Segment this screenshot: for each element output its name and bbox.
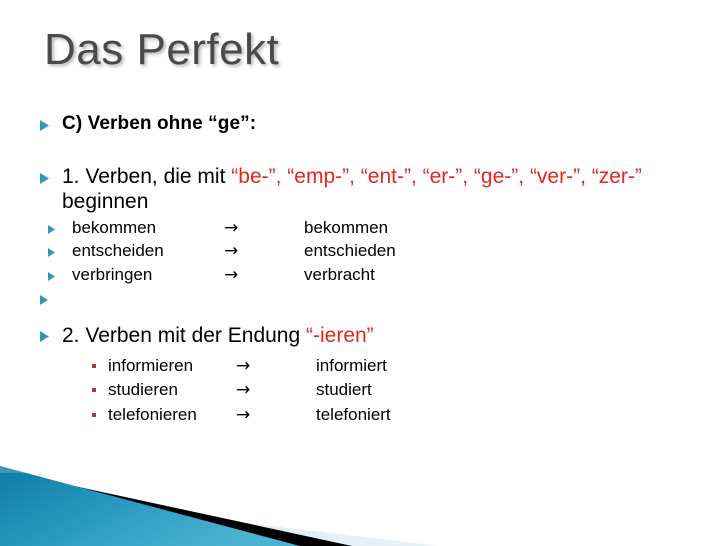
word-pair: verbringen → verbracht [72, 265, 688, 286]
rule-two-example-list: informieren → informiert studieren → stu… [92, 355, 688, 427]
infinitive: bekommen [72, 218, 224, 239]
square-bullet-icon [92, 404, 108, 417]
infinitive: entscheiden [72, 241, 224, 262]
square-bullet-icon [92, 379, 108, 392]
participle: entschieden [304, 241, 688, 262]
arrow-icon: → [224, 218, 304, 239]
infinitive: studieren [108, 379, 236, 401]
arrow-icon: → [236, 356, 316, 378]
bullet-item-empty [40, 289, 688, 311]
list-item: bekommen → bekommen [40, 218, 688, 239]
list-item: studieren → studiert [92, 379, 688, 402]
triangle-bullet-icon [40, 265, 72, 281]
square-bullet-icon [92, 355, 108, 368]
word-pair: studieren → studiert [108, 379, 688, 402]
infinitive: verbringen [72, 265, 224, 286]
infinitive: telefonieren [108, 404, 236, 426]
heading-text: C) Verben ohne “ge”: [62, 112, 688, 135]
participle: studiert [316, 379, 688, 401]
word-pair: bekommen → bekommen [72, 218, 688, 239]
bullet-item-rule-one: 1. Verben, die mit “be-”, “emp-”, “ent-”… [40, 165, 688, 215]
bullet-item-heading: C) Verben ohne “ge”: [40, 112, 688, 135]
rule-two-text: 2. Verben mit der Endung “-ieren” [62, 323, 688, 349]
triangle-bullet-icon [40, 289, 62, 305]
triangle-bullet-icon [40, 323, 62, 342]
list-item: informieren → informiert [92, 355, 688, 378]
participle: bekommen [304, 218, 688, 239]
arrow-icon: → [224, 241, 304, 262]
arrow-icon: → [236, 380, 316, 402]
list-item: verbringen → verbracht [40, 265, 688, 286]
triangle-bullet-icon [40, 218, 72, 234]
rule-one-lead: 1. Verben, die mit [62, 165, 231, 188]
list-item: entscheiden → entschieden [40, 241, 688, 262]
rule-one-tail: beginnen [62, 190, 148, 213]
infinitive: informieren [108, 355, 236, 377]
word-pair: informieren → informiert [108, 355, 688, 378]
slide: Das Perfekt C) Verben ohne “ge”: 1. Verb… [0, 0, 728, 546]
rule-one-text: 1. Verben, die mit “be-”, “emp-”, “ent-”… [62, 165, 688, 215]
page-title: Das Perfekt [44, 26, 279, 74]
participle: informiert [316, 355, 688, 377]
word-pair: entscheiden → entschieden [72, 241, 688, 262]
arrow-icon: → [236, 405, 316, 427]
triangle-bullet-icon [40, 241, 72, 257]
bullet-item-rule-two: 2. Verben mit der Endung “-ieren” [40, 323, 688, 349]
word-pair: telefonieren → telefoniert [108, 404, 688, 427]
triangle-bullet-icon [40, 112, 62, 131]
bottom-left-corner-graphic [0, 454, 440, 546]
slide-body: C) Verben ohne “ge”: 1. Verben, die mit … [40, 110, 688, 427]
rule-two-ending: “-ieren” [306, 324, 374, 347]
rule-one-prefixes: “be-”, “emp-”, “ent-”, “er-”, “ge-”, “ve… [231, 165, 642, 188]
participle: telefoniert [316, 404, 688, 426]
arrow-icon: → [224, 265, 304, 286]
list-item: telefonieren → telefoniert [92, 404, 688, 427]
rule-two-lead: 2. Verben mit der Endung [62, 324, 306, 347]
triangle-bullet-icon [40, 165, 62, 184]
participle: verbracht [304, 265, 688, 286]
